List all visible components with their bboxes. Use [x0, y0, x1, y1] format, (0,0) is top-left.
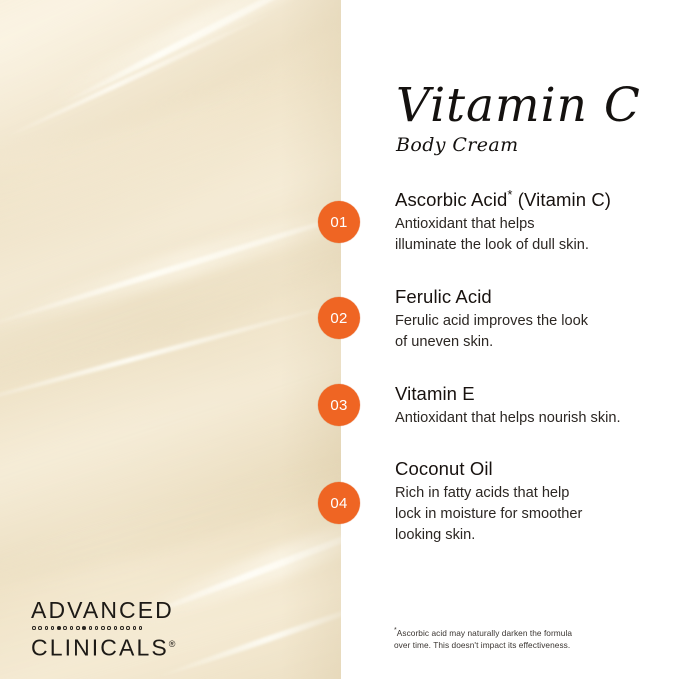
ingredient-body-line: Ferulic acid improves the look — [395, 311, 660, 332]
logo-dot — [120, 626, 124, 630]
registered-trademark-icon: ® — [169, 639, 176, 649]
ingredient-badge-03[interactable]: 03 — [318, 384, 360, 426]
ingredient-title-text: Coconut Oil — [395, 458, 493, 479]
logo-dot — [76, 626, 80, 630]
logo-dot — [95, 626, 99, 630]
logo-dot — [139, 626, 143, 630]
logo-dot-filled — [57, 626, 61, 630]
ingredient-badge-label: 02 — [330, 310, 347, 327]
page-title: Vitamin C — [396, 80, 666, 132]
ingredient-block-02: Ferulic Acid Ferulic acid improves the l… — [395, 285, 660, 353]
ingredient-title-text: Ferulic Acid — [395, 286, 492, 307]
ingredient-badge-04[interactable]: 04 — [318, 482, 360, 524]
logo-dot — [114, 626, 118, 630]
ingredient-body-line: illuminate the look of dull skin. — [395, 235, 660, 256]
ingredient-body-line: of uneven skin. — [395, 332, 660, 353]
ingredient-body-line: Antioxidant that helps nourish skin. — [395, 408, 660, 429]
title-block: Vitamin C Body Cream — [396, 80, 666, 156]
ingredient-title: Vitamin E — [395, 382, 660, 405]
ingredient-title-suffix: (Vitamin C) — [513, 189, 612, 210]
ingredient-badge-01[interactable]: 01 — [318, 201, 360, 243]
brand-logo-line-2-text: CLINICALS — [31, 635, 169, 661]
ingredient-title: Ascorbic Acid* (Vitamin C) — [395, 188, 660, 211]
logo-dot — [126, 626, 130, 630]
ingredient-body-line: looking skin. — [395, 525, 660, 546]
ingredient-body-line: Antioxidant that helps — [395, 214, 660, 235]
product-infographic: ADVANCED CLINICALS — [0, 0, 679, 679]
brand-logo: ADVANCED CLINICALS — [31, 598, 211, 661]
ingredient-block-04: Coconut Oil Rich in fatty acids that hel… — [395, 457, 660, 546]
logo-dot — [89, 626, 93, 630]
logo-dot — [107, 626, 111, 630]
ingredient-body-line: Rich in fatty acids that help — [395, 483, 660, 504]
logo-dot — [38, 626, 42, 630]
page-subtitle: Body Cream — [396, 134, 666, 156]
footnote-line-1: *Ascorbic acid may naturally darken the … — [394, 628, 634, 640]
ingredient-badge-02[interactable]: 02 — [318, 297, 360, 339]
footnote-line-2: over time. This doesn't impact its effec… — [394, 640, 634, 652]
ingredient-body: Antioxidant that helps illuminate the lo… — [395, 214, 660, 256]
ingredient-body: Rich in fatty acids that help lock in mo… — [395, 483, 660, 546]
logo-dot — [32, 626, 36, 630]
logo-dot — [63, 626, 67, 630]
logo-dot — [133, 626, 137, 630]
logo-dot — [101, 626, 105, 630]
logo-dot-filled — [82, 626, 86, 630]
footnote: *Ascorbic acid may naturally darken the … — [394, 628, 634, 651]
logo-dot — [70, 626, 74, 630]
logo-dot — [45, 626, 49, 630]
ingredient-block-01: Ascorbic Acid* (Vitamin C) Antioxidant t… — [395, 188, 660, 256]
cream-texture-panel: ADVANCED CLINICALS — [0, 0, 341, 679]
ingredient-block-03: Vitamin E Antioxidant that helps nourish… — [395, 382, 660, 429]
ingredient-title-text: Ascorbic Acid — [395, 189, 507, 210]
ingredient-badge-label: 04 — [330, 495, 347, 512]
cream-edge-shading — [281, 0, 341, 679]
ingredient-title: Coconut Oil — [395, 457, 660, 480]
ingredient-badge-label: 03 — [330, 397, 347, 414]
ingredient-title-text: Vitamin E — [395, 383, 475, 404]
ingredient-body-line: lock in moisture for smoother — [395, 504, 660, 525]
brand-logo-line-1: ADVANCED — [31, 598, 211, 623]
ingredient-body: Antioxidant that helps nourish skin. — [395, 408, 660, 429]
ingredient-body: Ferulic acid improves the look of uneven… — [395, 311, 660, 353]
brand-logo-line-2: CLINICALS® — [31, 632, 211, 661]
ingredient-title: Ferulic Acid — [395, 285, 660, 308]
footnote-line-1-text: Ascorbic acid may naturally darken the f… — [397, 628, 572, 638]
brand-logo-dots — [32, 624, 211, 632]
logo-dot — [51, 626, 55, 630]
ingredient-badge-label: 01 — [330, 214, 347, 231]
